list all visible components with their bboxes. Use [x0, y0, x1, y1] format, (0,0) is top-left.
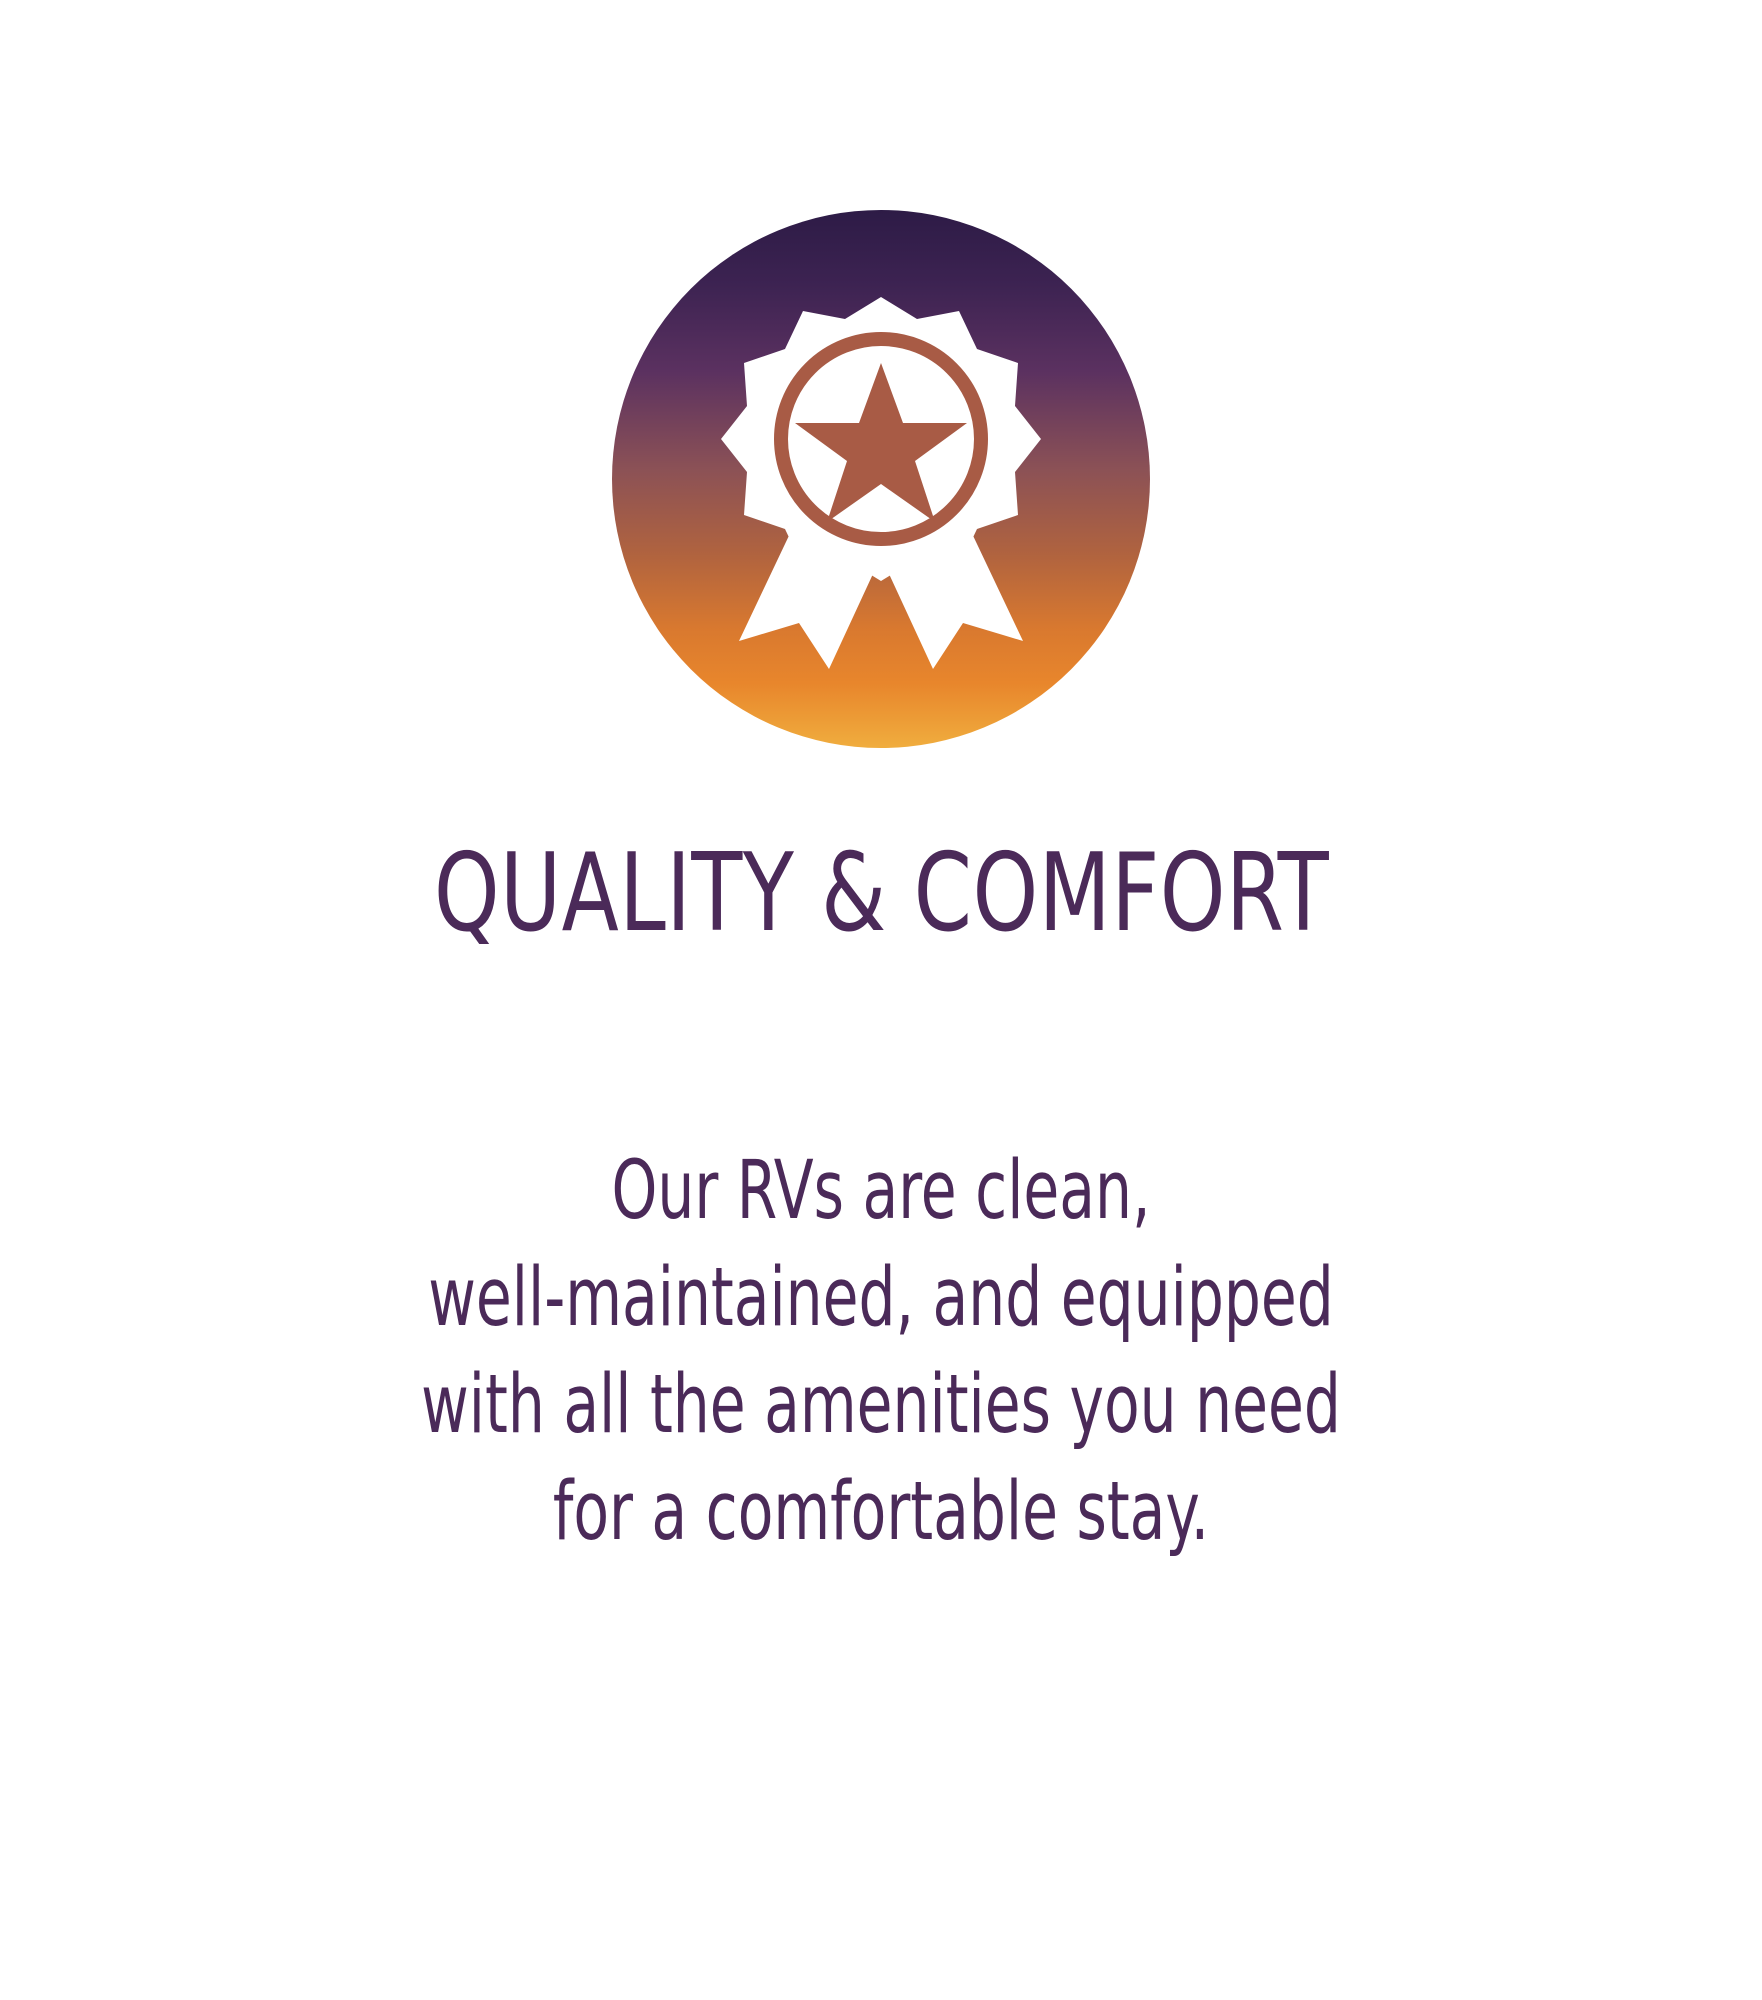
- description-line: with all the amenities you need: [225, 1352, 1537, 1459]
- award-ribbon-badge-icon: [612, 210, 1150, 748]
- rosette-ribbon-icon: [721, 289, 1041, 669]
- description-line: for a comfortable stay.: [225, 1459, 1537, 1566]
- quality-comfort-feature-card: QUALITY & COMFORT Our RVs are clean, wel…: [0, 0, 1762, 2000]
- page-title: QUALITY & COMFORT: [433, 840, 1328, 948]
- description-line: well-maintained, and equipped: [225, 1245, 1537, 1352]
- feature-description: Our RVs are clean, well-maintained, and …: [225, 1138, 1537, 1566]
- feature-icon-wrapper: [612, 210, 1150, 748]
- description-line: Our RVs are clean,: [225, 1138, 1537, 1245]
